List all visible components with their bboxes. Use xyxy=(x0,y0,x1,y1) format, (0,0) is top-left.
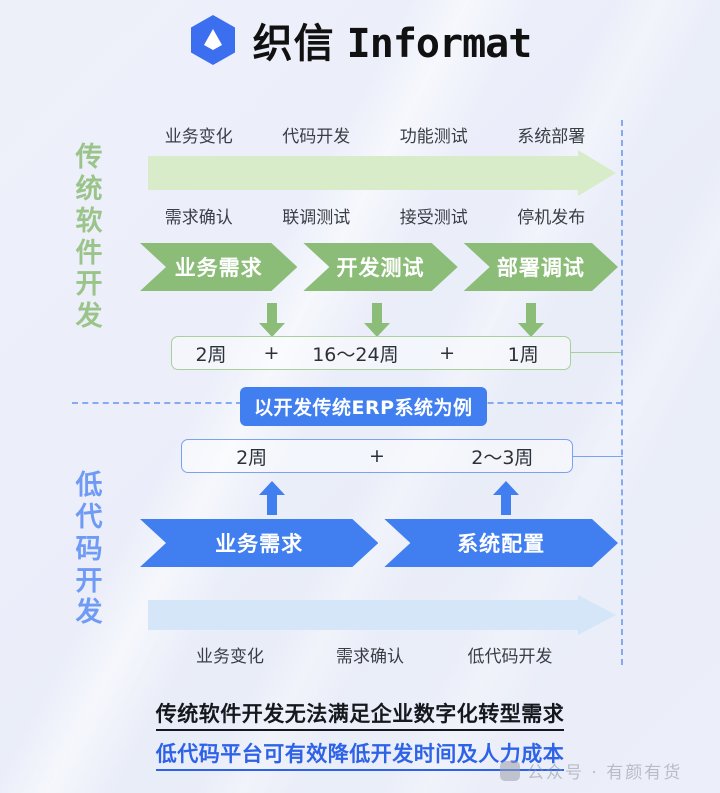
stage-label: 需求确认 xyxy=(140,203,258,228)
phase-label: 业务需求 xyxy=(215,528,303,558)
divider-dash-left xyxy=(72,402,242,404)
caption-text: 传统软件开发无法满足企业数字化转型需求 xyxy=(156,702,565,731)
lowcode-bottom-stage-labels: 业务变化 需求确认 低代码开发 xyxy=(160,642,580,667)
phase-label: 开发测试 xyxy=(337,252,425,282)
traditional-top-stage-labels: 业务变化 代码开发 功能测试 系统部署 xyxy=(140,122,610,147)
duration-value: 16～24周 xyxy=(293,340,418,367)
plus-sign: + xyxy=(250,342,293,364)
down-arrow-icon xyxy=(364,303,390,337)
traditional-phase-chevrons: 业务需求 开发测试 部署调试 xyxy=(140,243,618,291)
brand-name-cn: 织信 xyxy=(253,11,335,69)
brand-header: 织信 Informat xyxy=(0,0,720,80)
traditional-duration-box: 2周 + 16～24周 + 1周 xyxy=(171,336,571,370)
phase-chevron-business-requirement[interactable]: 业务需求 xyxy=(140,243,297,291)
stage-label: 低代码开发 xyxy=(440,642,580,667)
lowcode-phase-chevrons: 业务需求 系统配置 xyxy=(140,519,618,567)
duration-value: 2周 xyxy=(182,443,321,470)
stage-label: 代码开发 xyxy=(258,122,376,147)
watermark-text: 公众号 · 有颜有货 xyxy=(527,758,682,783)
plus-sign: + xyxy=(418,342,477,364)
brand-wordmark: 织信 Informat xyxy=(253,11,532,69)
traditional-flow-arrow xyxy=(148,150,616,196)
section-label-lowcode: 低代码开发 xyxy=(66,470,112,629)
stage-label: 功能测试 xyxy=(375,122,493,147)
stage-label: 停机发布 xyxy=(493,203,611,228)
hexagon-droplet-logo-icon xyxy=(189,14,237,66)
up-arrow-icon xyxy=(259,481,285,515)
phase-chevron-business-requirement[interactable]: 业务需求 xyxy=(140,519,378,567)
stage-label: 接受测试 xyxy=(375,203,493,228)
phase-chevron-dev-test[interactable]: 开发测试 xyxy=(303,243,457,291)
plus-sign: + xyxy=(321,445,432,467)
brand-name-en: Informat xyxy=(347,21,532,67)
duration-value: 2周 xyxy=(172,340,250,367)
stage-label: 业务变化 xyxy=(140,122,258,147)
watermark-logo-icon xyxy=(500,761,520,781)
stage-label: 业务变化 xyxy=(160,642,300,667)
section-label-traditional: 传统软件开发 xyxy=(66,142,112,333)
duration-value: 1周 xyxy=(476,340,570,367)
poster-canvas: 织信 Informat 传统软件开发 低代码开发 业务变化 代码开发 功能测试 … xyxy=(0,0,720,793)
caption-traditional: 传统软件开发无法满足企业数字化转型需求 xyxy=(0,698,720,728)
watermark: 公众号 · 有颜有货 xyxy=(500,758,682,783)
phase-chevron-deploy-debug[interactable]: 部署调试 xyxy=(464,243,618,291)
stage-label: 需求确认 xyxy=(300,642,440,667)
vertical-dashed-guide xyxy=(621,120,623,665)
stage-label: 系统部署 xyxy=(493,122,611,147)
divider-badge: 以开发传统ERP系统为例 xyxy=(240,387,487,426)
traditional-mid-stage-labels: 需求确认 联调测试 接受测试 停机发布 xyxy=(140,203,610,228)
traditional-connector-line xyxy=(571,352,623,353)
down-arrow-icon xyxy=(518,303,544,337)
lowcode-flow-arrow xyxy=(148,595,616,635)
phase-chevron-system-config[interactable]: 系统配置 xyxy=(384,519,618,567)
lowcode-duration-box: 2周 + 2～3周 xyxy=(181,439,573,473)
duration-value: 2～3周 xyxy=(433,443,572,470)
lowcode-connector-line xyxy=(573,456,623,457)
phase-label: 系统配置 xyxy=(457,528,545,558)
stage-label: 联调测试 xyxy=(258,203,376,228)
phase-label: 部署调试 xyxy=(497,252,585,282)
phase-label: 业务需求 xyxy=(175,252,263,282)
up-arrow-icon xyxy=(493,481,519,515)
down-arrow-icon xyxy=(259,303,285,337)
